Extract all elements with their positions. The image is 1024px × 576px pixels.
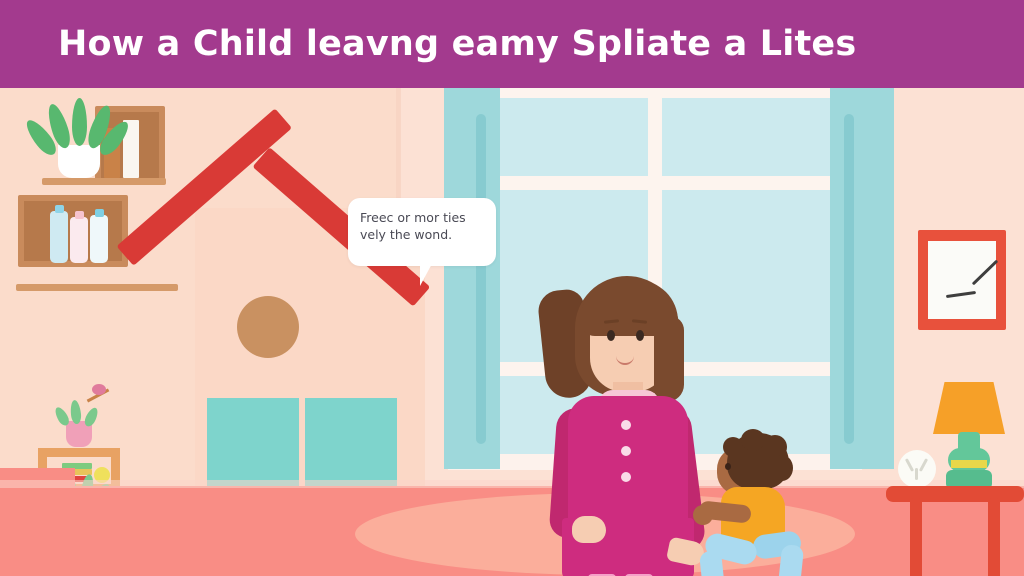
plant-stand-upper-top [38, 448, 120, 457]
side-table-top [886, 486, 1024, 502]
mother-dress-button [621, 420, 631, 430]
curtain-fold [476, 114, 486, 444]
shelf-box-bottles [18, 195, 128, 267]
mother-hand-left [572, 516, 606, 543]
curtain-fold [844, 114, 854, 444]
picture-stroke [946, 291, 976, 298]
side-table-leg-right [988, 498, 1000, 576]
picture-canvas [928, 241, 996, 319]
speech-bubble-text: Freec or mor ties vely the wond. [360, 209, 488, 243]
bottle-cap [95, 209, 104, 217]
bottle-cap [55, 205, 64, 213]
curtain-left [444, 88, 500, 469]
mother-dress-button [621, 472, 631, 482]
plant-pot-white [58, 145, 100, 178]
speech-line-2: vely the wond. [360, 226, 488, 243]
curtain-right [830, 88, 894, 469]
ball-decor [898, 450, 936, 488]
mother-hair-side [654, 316, 684, 402]
picture-stroke [972, 260, 999, 286]
speech-line-1: Freec or mor ties [360, 209, 488, 226]
shelf-plank-mid [16, 284, 178, 291]
ball-seam [905, 458, 914, 472]
house-attic-window-icon [237, 296, 299, 358]
child-hand [693, 505, 713, 525]
mother-eye-right [636, 330, 644, 341]
baseboard [0, 480, 1024, 488]
mother-dress-button [621, 446, 631, 456]
flower-head [92, 384, 106, 395]
speech-bubble: Freec or mor ties vely the wond. [348, 198, 496, 266]
child-hair-curl [723, 437, 743, 457]
speech-bubble-tail [420, 260, 446, 286]
lamp-band [951, 460, 987, 468]
ball-seam [919, 458, 928, 472]
bottle-blue [50, 211, 68, 263]
room-scene: Freec or mor ties vely the wond. [0, 88, 1024, 576]
illustration-canvas: How a Child leavng eamy Spliate a Lites [0, 0, 1024, 576]
mother-figure [520, 268, 720, 576]
title-banner: How a Child leavng eamy Spliate a Lites [0, 0, 1024, 88]
child-eye [725, 463, 731, 470]
bottle-teal [90, 215, 108, 263]
bottle-pink [70, 217, 88, 263]
lamp-shade [933, 382, 1005, 434]
child-hair-curl [771, 455, 793, 481]
ball-seam [915, 468, 918, 480]
side-table-leg-left [910, 498, 922, 576]
bottle-cap [75, 211, 84, 219]
child-hair-curl [741, 429, 765, 451]
child-figure [695, 433, 825, 576]
mother-eye-left [607, 330, 615, 341]
page-title: How a Child leavng eamy Spliate a Lites [58, 24, 856, 64]
shelf-plank-top [42, 178, 166, 185]
framed-picture [918, 230, 1006, 330]
